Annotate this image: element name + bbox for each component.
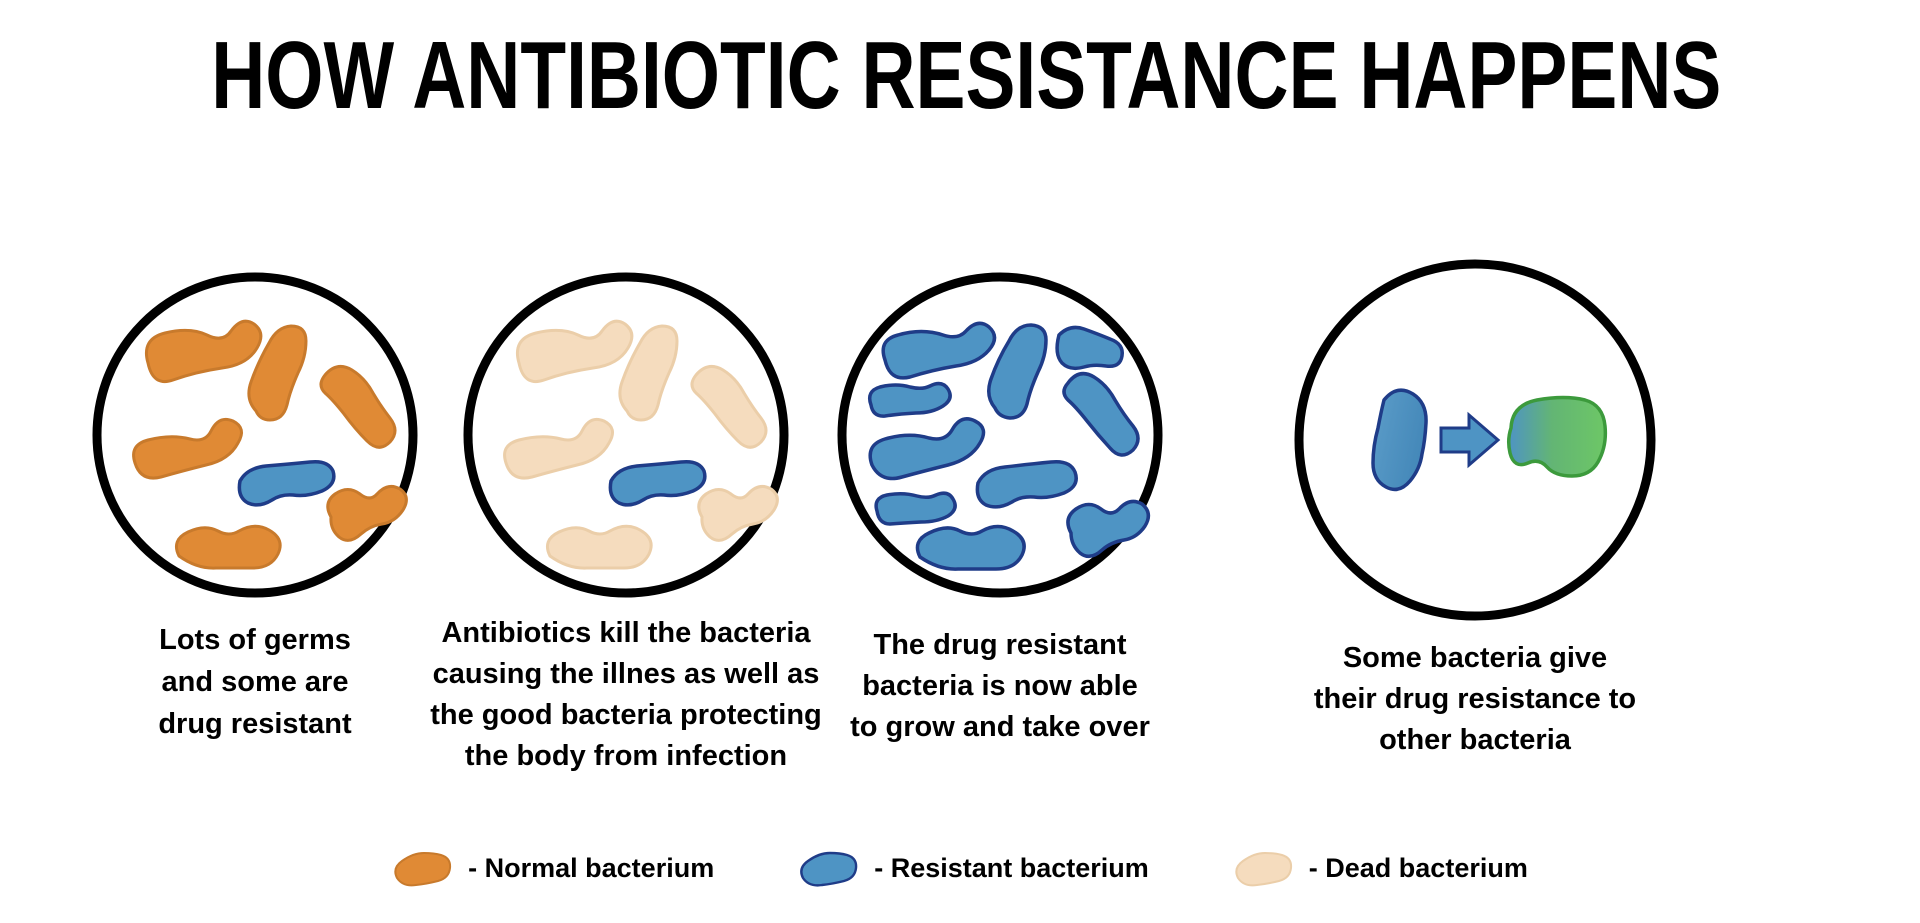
- petri-dish-1: [85, 265, 425, 605]
- dish-illustration-1: [85, 265, 425, 605]
- dish-illustration-4: [1285, 250, 1665, 630]
- petri-dish-3: [830, 265, 1170, 605]
- legend-label: - Resistant bacterium: [874, 853, 1149, 883]
- legend-label: - Normal bacterium: [468, 853, 714, 883]
- panel-bacteria-share-resistance: Some bacteria give their drug resistance…: [1155, 250, 1795, 761]
- legend-label: - Dead bacterium: [1309, 853, 1528, 883]
- panels-row: Lots of germs and some are drug resistan…: [0, 0, 1920, 820]
- legend-item-resistant: - Resistant bacterium: [798, 845, 1149, 891]
- resistant-bacterium: [876, 493, 955, 524]
- legend-item-normal: - Normal bacterium: [392, 845, 714, 891]
- normal-bacterium: [176, 526, 280, 568]
- resistant-bacterium: [917, 527, 1024, 570]
- legend: - Normal bacterium - Resistant bacterium…: [0, 845, 1920, 891]
- legend-item-dead: - Dead bacterium: [1233, 845, 1528, 891]
- infographic-poster: HOW ANTIBIOTIC RESISTANCE HAPPENS: [0, 0, 1920, 923]
- petri-dish-2: [456, 265, 796, 605]
- petri-dish-4: [1285, 250, 1665, 630]
- normal-bacterium-swatch-icon: [392, 845, 454, 891]
- transfer-target-bacterium: [1509, 398, 1606, 477]
- resistant-bacterium-swatch-icon: [798, 845, 860, 891]
- dead-bacterium-swatch-icon: [1233, 845, 1295, 891]
- panel-caption: Some bacteria give their drug resistance…: [1155, 638, 1795, 761]
- dish-illustration-3: [830, 265, 1170, 605]
- dish-illustration-2: [456, 265, 796, 605]
- dead-bacterium: [547, 526, 651, 568]
